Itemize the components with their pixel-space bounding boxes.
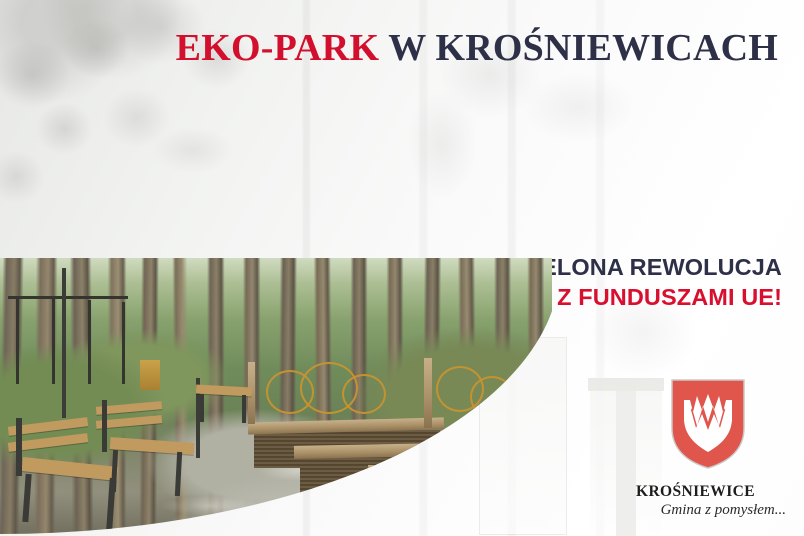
subtitle-line-2: Z FUNDUSZAMI UE! — [520, 282, 782, 312]
coat-of-arms-icon — [628, 378, 788, 475]
municipality-logo: KROŚNIEWICE Gmina z pomysłem... — [628, 378, 788, 519]
bench-leg — [16, 418, 22, 476]
bench-leg — [200, 394, 204, 422]
page-title: EKO-PARK W KROŚNIEWICACH — [0, 26, 778, 70]
bench-leg — [242, 395, 246, 423]
subtitle-line-1: ZIELONA REWOLUCJA — [520, 252, 782, 282]
poster-eko-park: EKO-PARK W KROŚNIEWICACH ZIELONA REWOLUC… — [0, 0, 804, 536]
branch-railing — [342, 374, 386, 414]
pergola-post — [122, 302, 125, 384]
pergola-post — [88, 300, 91, 384]
page-title-rest: W KROŚNIEWICACH — [379, 27, 778, 69]
waste-bin — [140, 360, 160, 390]
logo-municipality-name: KROŚNIEWICE — [628, 483, 788, 501]
bench-leg — [102, 400, 107, 452]
subtitle: ZIELONA REWOLUCJA Z FUNDUSZAMI UE! — [520, 252, 782, 312]
pergola-post — [52, 298, 55, 384]
pergola-beam — [8, 296, 128, 299]
page-title-highlight: EKO-PARK — [176, 27, 380, 69]
lamp-post — [62, 268, 66, 418]
railing-post — [424, 358, 432, 428]
pergola-post — [16, 296, 19, 384]
logo-tagline: Gmina z pomysłem... — [628, 502, 788, 519]
